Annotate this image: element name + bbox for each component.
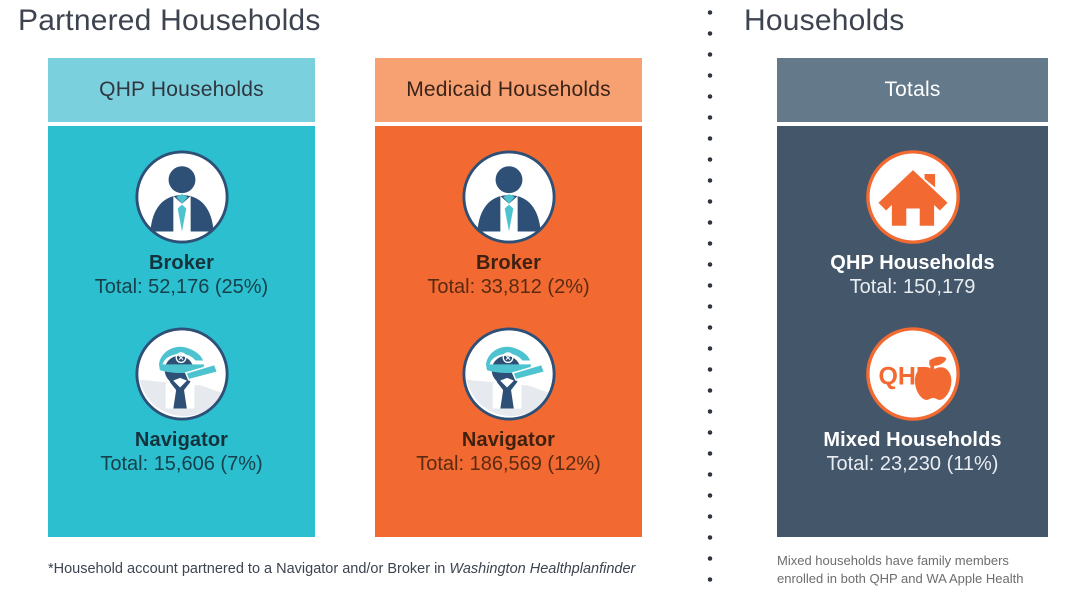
stat-medicaid-broker-total: Total: 33,812 (2%) [427,276,589,299]
footnote-mixed-line2: enrolled in both QHP and WA Apple Health [777,570,1057,588]
broker-suit-icon [134,149,230,245]
stat-qhp-navigator-total: Total: 15,606 (7%) [100,453,262,476]
stat-qhp-navigator: Navigator Total: 15,606 (7%) [48,326,315,476]
panel-qhp-households: QHP Households Broker Total: 52,176 (25%… [48,58,315,537]
qhp-apple-icon: QHP [865,326,961,422]
stat-qhp-broker-name: Broker [149,252,214,275]
dotted-divider [707,2,713,594]
panel-medicaid-households: Medicaid Households Broker Total: 33,812… [375,58,642,537]
stat-medicaid-navigator-name: Navigator [462,429,555,452]
panel-totals-body: QHP Households Total: 150,179 QHP Mixed … [777,126,1048,537]
stat-totals-mixed-name: Mixed Households [823,429,1001,452]
stat-medicaid-broker: Broker Total: 33,812 (2%) [375,149,642,299]
stat-totals-qhp-households: QHP Households Total: 150,179 [777,149,1048,299]
stat-medicaid-navigator: Navigator Total: 186,569 (12%) [375,326,642,476]
footnote-partnered: *Household account partnered to a Naviga… [48,561,635,577]
panel-totals-header: Totals [777,58,1048,122]
footnote-mixed-line1: Mixed households have family members [777,552,1057,570]
footnote-mixed-households: Mixed households have family members enr… [777,552,1057,588]
panel-qhp-header: QHP Households [48,58,315,122]
stat-totals-qhp-total: Total: 150,179 [850,276,976,299]
panel-medicaid-header-label: Medicaid Households [406,78,611,102]
footnote-partnered-text: *Household account partnered to a Naviga… [48,561,449,577]
page-title-partnered-households: Partnered Households [18,4,321,38]
stat-qhp-broker-total: Total: 52,176 (25%) [95,276,268,299]
svg-text:QHP: QHP [878,363,932,391]
panel-medicaid-body: Broker Total: 33,812 (2%) Navigator Tota… [375,126,642,537]
page-title-households: Households [744,4,904,38]
panel-qhp-header-label: QHP Households [99,78,264,102]
panel-medicaid-header: Medicaid Households [375,58,642,122]
stat-qhp-navigator-name: Navigator [135,429,228,452]
broker-suit-icon [461,149,557,245]
stat-totals-mixed-total: Total: 23,230 (11%) [827,453,999,476]
navigator-captain-icon [461,326,557,422]
panel-totals-header-label: Totals [884,78,940,102]
stat-totals-mixed-households: QHP Mixed Households Total: 23,230 (11%) [777,326,1048,476]
stat-medicaid-broker-name: Broker [476,252,541,275]
stat-qhp-broker: Broker Total: 52,176 (25%) [48,149,315,299]
stat-medicaid-navigator-total: Total: 186,569 (12%) [416,453,601,476]
stat-totals-qhp-name: QHP Households [830,252,994,275]
panel-totals: Totals QHP Households Total: 150,179 QHP [777,58,1048,537]
footnote-partnered-source: Washington Healthplanfinder [449,561,635,577]
house-icon [865,149,961,245]
navigator-captain-icon [134,326,230,422]
panel-qhp-body: Broker Total: 52,176 (25%) Navigator Tot… [48,126,315,537]
